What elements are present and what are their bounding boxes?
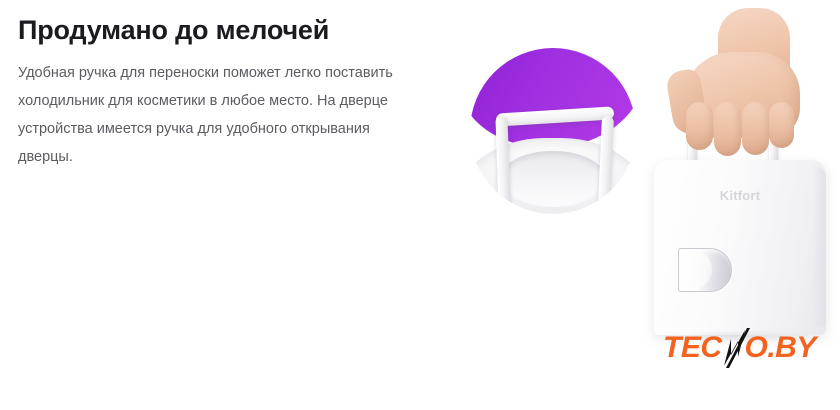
handle-closeup-inset	[470, 48, 636, 214]
hand	[656, 8, 816, 163]
tecno-by-watermark: TECO.BY	[663, 330, 825, 372]
mini-fridge-body: Kitfort	[654, 160, 826, 335]
lightning-bolt-n-icon	[720, 328, 754, 368]
watermark-text-before: TEC	[663, 331, 722, 364]
promo-banner: Продумано до мелочей Удобная ручка для п…	[0, 0, 840, 410]
inset-handle-bar	[496, 106, 615, 126]
inset-handle-post-right	[598, 116, 614, 208]
inset-carry-handle	[496, 110, 614, 206]
body-paragraph: Удобная ручка для переноски поможет легк…	[18, 60, 418, 171]
page-title: Продумано до мелочей	[18, 14, 428, 46]
door-handle	[678, 248, 732, 292]
brand-label: Kitfort	[654, 188, 826, 203]
finger-middle	[714, 102, 741, 156]
finger-index	[686, 102, 713, 150]
finger-ring	[742, 102, 769, 155]
text-block: Продумано до мелочей Удобная ручка для п…	[18, 14, 428, 172]
finger-little	[769, 102, 794, 148]
product-photo: Kitfort	[628, 0, 840, 340]
inset-handle-post-left	[495, 116, 510, 208]
watermark-text-after: O.BY	[745, 331, 816, 364]
